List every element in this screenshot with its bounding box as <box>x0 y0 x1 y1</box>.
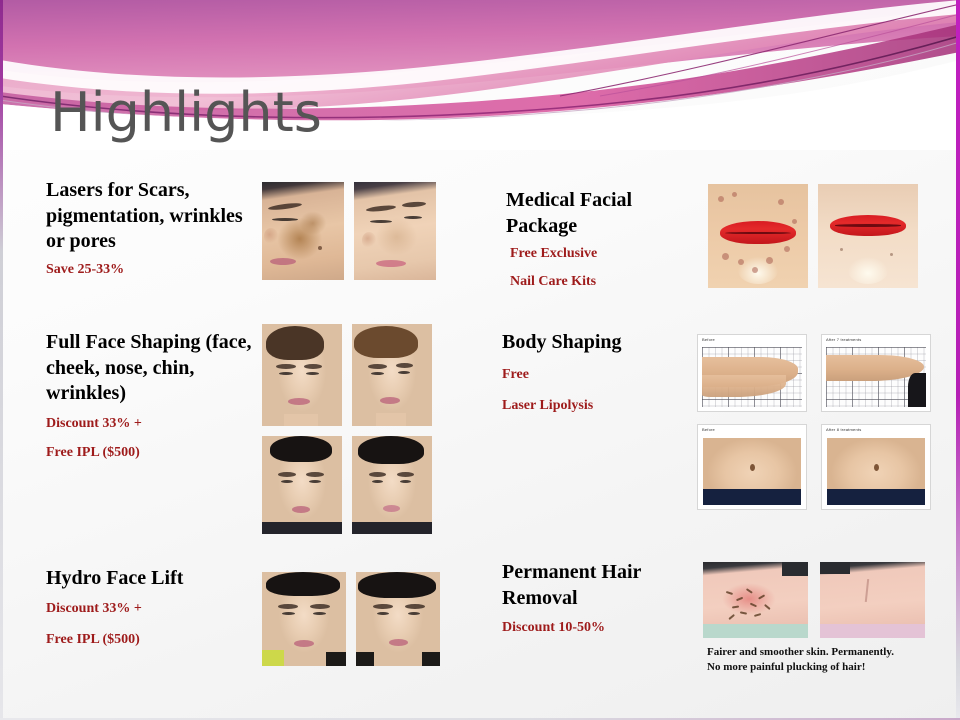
section-lasers: Lasers for Scars, pigmentation, wrinkles… <box>46 178 261 280</box>
photo-before-abdomen: Before <box>697 424 807 510</box>
page-title: Highlights <box>50 86 322 140</box>
photo-label-before-abdomen: Before <box>702 427 715 432</box>
hair-stubble-texture <box>724 588 772 611</box>
right-border-accent <box>956 0 960 720</box>
photo-label-after-arm: After 7 treatments <box>826 337 861 342</box>
hydro-heading: Hydro Face Lift <box>46 566 266 592</box>
section-hair-removal: Permanent Hair Removal Discount 10-50% <box>502 560 702 639</box>
slide-canvas: Highlights Lasers for Scars, pigmentatio… <box>0 0 960 720</box>
photo-before-pigmentation <box>262 182 344 280</box>
full-face-heading: Full Face Shaping (face, cheek, nose, ch… <box>46 330 266 407</box>
section-hydro-face-lift: Hydro Face Lift Discount 33% + Free IPL … <box>46 566 266 651</box>
hair-removal-offer: Discount 10-50% <box>502 617 702 639</box>
lasers-heading: Lasers for Scars, pigmentation, wrinkles… <box>46 178 261 255</box>
body-shaping-heading: Body Shaping <box>502 330 702 356</box>
photo-before-hair-removal <box>703 562 808 638</box>
hydro-offer-2: Free IPL ($500) <box>46 629 266 651</box>
full-face-photo-pair-top <box>262 324 432 426</box>
photo-before-face-shaping-3q <box>262 324 342 426</box>
section-medical-facial: Medical Facial Package Free Exclusive Na… <box>506 188 696 293</box>
body-shaping-offer-1: Free <box>502 364 702 386</box>
left-border-accent <box>0 0 3 720</box>
photo-label-before-arm: Before <box>702 337 715 342</box>
body-shaping-abdomen-pair: Before After 8 treatments <box>697 424 931 510</box>
body-shaping-offer-2: Laser Lipolysis <box>502 395 702 417</box>
photo-after-acne-chin <box>818 184 918 288</box>
hair-removal-heading: Permanent Hair Removal <box>502 560 702 611</box>
hair-removal-caption-line1: Fairer and smoother skin. Permanently. <box>707 645 947 660</box>
section-body-shaping: Body Shaping Free Laser Lipolysis <box>502 330 702 417</box>
full-face-offer-1: Discount 33% + <box>46 413 266 435</box>
photo-after-hair-removal <box>820 562 925 638</box>
hydro-photo-pair <box>262 572 440 666</box>
photo-before-face-shaping-front <box>262 436 342 534</box>
hair-removal-caption-line2: No more painful plucking of hair! <box>707 660 947 675</box>
medical-facial-offer-1: Free Exclusive <box>506 243 696 265</box>
hair-removal-photo-pair <box>703 562 925 638</box>
lasers-photo-pair <box>262 182 436 280</box>
hydro-offer-1: Discount 33% + <box>46 598 266 620</box>
full-face-photo-pair-bottom <box>262 436 432 534</box>
photo-label-after-abdomen: After 8 treatments <box>826 427 861 432</box>
medical-facial-offer-2: Nail Care Kits <box>506 271 696 293</box>
photo-before-hydro <box>262 572 346 666</box>
lasers-offer: Save 25-33% <box>46 259 261 281</box>
section-full-face-shaping: Full Face Shaping (face, cheek, nose, ch… <box>46 330 266 464</box>
photo-after-upper-arm: After 7 treatments <box>821 334 931 412</box>
photo-after-abdomen: After 8 treatments <box>821 424 931 510</box>
full-face-offer-2: Free IPL ($500) <box>46 442 266 464</box>
photo-before-upper-arm: Before <box>697 334 807 412</box>
photo-after-hydro <box>356 572 440 666</box>
photo-after-face-shaping-3q <box>352 324 432 426</box>
body-shaping-arm-pair: Before After 7 treatments <box>697 334 931 412</box>
hair-removal-caption: Fairer and smoother skin. Permanently. N… <box>707 645 947 675</box>
photo-after-pigmentation <box>354 182 436 280</box>
photo-after-face-shaping-front <box>352 436 432 534</box>
medical-facial-heading: Medical Facial Package <box>506 188 696 239</box>
photo-before-acne-chin <box>708 184 808 288</box>
medical-facial-photo-pair <box>708 184 918 288</box>
